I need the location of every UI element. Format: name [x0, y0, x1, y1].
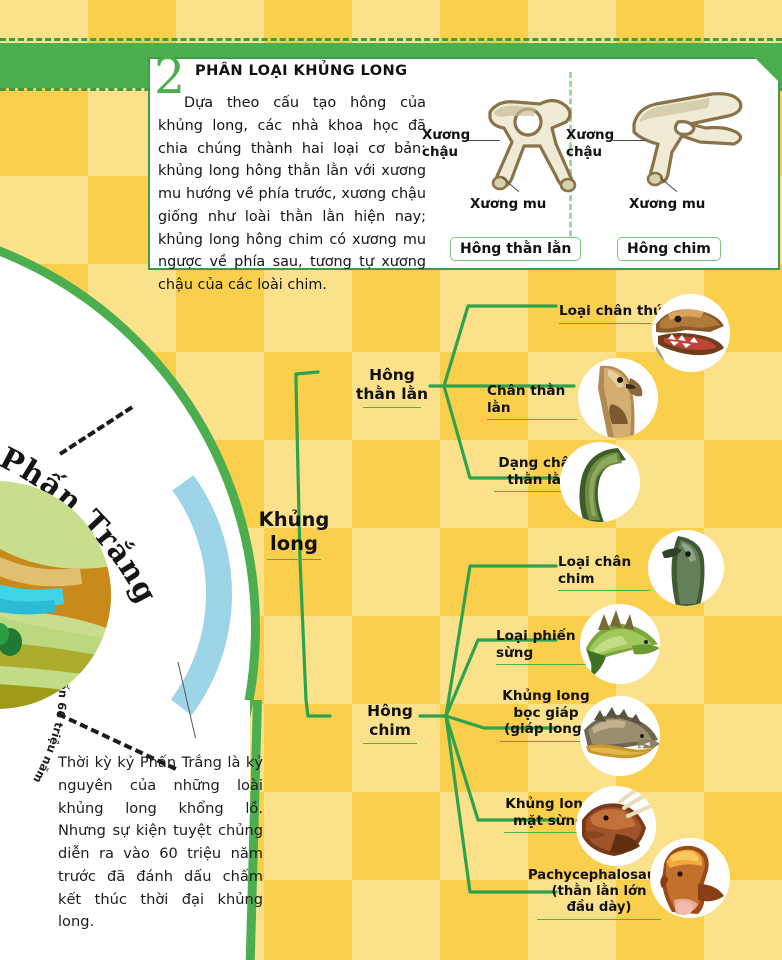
ornithopoda-label: Loại chân chim [558, 554, 631, 587]
ornithischian-hip-bone-illustration [628, 88, 746, 188]
pachycephalosaurus-photo [650, 838, 730, 918]
tree-root-line2: long [270, 532, 318, 555]
ornithopod-head-photo [648, 530, 724, 606]
right-hip-bone-label: Xươngchậu [566, 128, 614, 162]
ceratopsia-line2: mặt sừng [513, 813, 585, 829]
sauropod-foot-label: Chân thằn lằn [487, 383, 565, 416]
tree-leaf-pachycephalosauria: Pachycephalosaurus (thằn lằn lớn đầu dày… [528, 868, 670, 920]
tree-root-line1: Khủng [259, 508, 330, 531]
sauropod-foot-underline [487, 419, 577, 420]
pachycephalosauria-line2: (thằn lằn lớn [552, 884, 647, 899]
pachycephalosauria-underline [537, 919, 662, 920]
ankylosauria-line1: Khủng long [502, 688, 589, 704]
sauropod-head-photo [578, 358, 658, 438]
pachycephalosauria-line3: đầu dày) [567, 900, 632, 915]
cretaceous-paragraph: Thời kỳ kỷ Phấn Trắng là kỷ nguyên của n… [58, 752, 263, 934]
sauropod-neck-photo [560, 442, 640, 522]
stegosauria-underline [496, 664, 593, 665]
ankylosauria-line2: bọc giáp [513, 705, 578, 721]
trex-head-photo [652, 294, 730, 372]
ornithischia-line1: Hông chim [367, 702, 413, 739]
tree-node-saurischia: Hông thằn lằn [352, 366, 432, 408]
ankylosauria-line3: (giáp long) [504, 721, 588, 737]
infographic-page: Kỷ Phấn Trắng (Creta) cách nay 145 triệu… [0, 0, 782, 960]
ankylosauria-underline [500, 741, 592, 742]
left-hip-leader-tick [468, 140, 500, 141]
classification-body-text: Dựa theo cấu tạo hông của khủng long, cá… [158, 92, 426, 297]
left-hip-bone-label: Xươngchậu [422, 128, 470, 162]
section-title: PHÂN LOẠI KHỦNG LONG [195, 62, 408, 79]
right-hip-leader-tick [613, 140, 645, 141]
left-pubis-label: Xương mu [470, 197, 546, 214]
stegosauria-label: Loại phiến sừng [496, 628, 576, 661]
stegosaurus-photo [580, 604, 660, 684]
ankylosaurus-photo [580, 696, 660, 776]
tree-leaf-ornithopoda: Loại chân chim [558, 554, 662, 591]
tree-root-label: Khủng long [256, 508, 332, 560]
tree-leaf-sauropod-foot: Chân thằn lằn [487, 383, 589, 420]
theropoda-label: Loại chân thú [559, 303, 663, 319]
saurischia-underline [363, 407, 421, 408]
badge-saurischian: Hông thằn lằn [450, 237, 581, 261]
saurischia-line2: thằn lằn [356, 385, 428, 403]
right-pubis-label: Xương mu [629, 197, 705, 214]
saurischia-line1: Hông [369, 366, 415, 384]
tree-root-underline [267, 559, 322, 560]
badge-ornithischian: Hông chim [617, 237, 721, 261]
triceratops-photo [576, 786, 656, 866]
ornithischia-underline [363, 743, 418, 744]
ornithopoda-underline [558, 590, 650, 591]
banner-top-dashed-divider [0, 38, 782, 41]
theropoda-underline [559, 323, 651, 324]
tree-node-ornithischia: Hông chim [352, 702, 428, 744]
tree-leaf-theropoda: Loại chân thú [559, 303, 663, 324]
